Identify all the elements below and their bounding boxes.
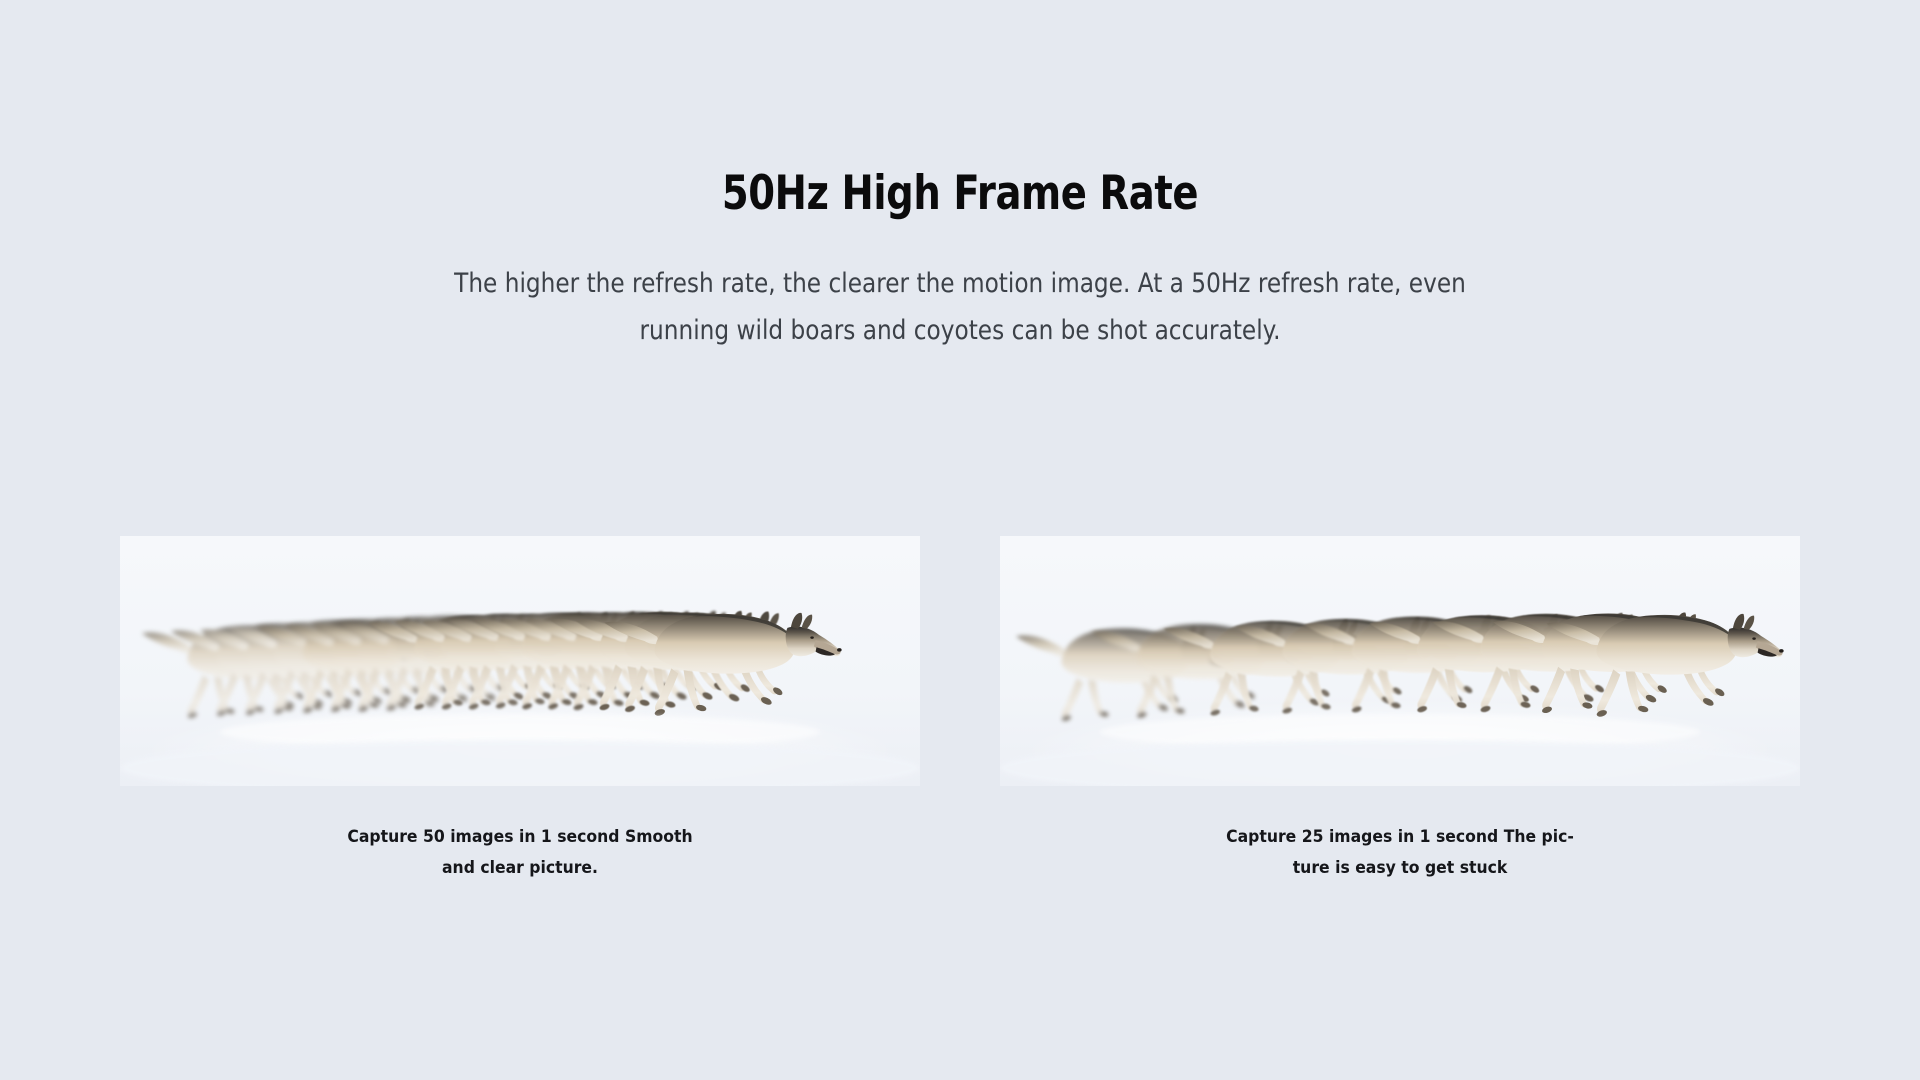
- wolf-burst-25fps-svg: [1000, 536, 1800, 786]
- wolf-burst-25fps-image: [1000, 536, 1800, 786]
- panel-25hz: Capture 25 images in 1 second The pic- t…: [1000, 536, 1800, 884]
- caption-25hz-line-2: ture is easy to get stuck: [1161, 853, 1639, 884]
- caption-50hz-line-1: Capture 50 images in 1 second Smooth: [281, 822, 759, 853]
- wolf-burst-50fps-image: [120, 536, 920, 786]
- caption-50hz-line-2: and clear picture.: [281, 853, 759, 884]
- page-title: 50Hz High Frame Rate: [173, 168, 1747, 220]
- subtitle-line-2: running wild boars and coyotes can be sh…: [349, 307, 1570, 354]
- panel-50hz: Capture 50 images in 1 second Smooth and…: [120, 536, 920, 884]
- caption-25hz: Capture 25 images in 1 second The pic- t…: [1161, 822, 1639, 884]
- promo-page: 50Hz High Frame Rate The higher the refr…: [0, 0, 1920, 1080]
- caption-50hz: Capture 50 images in 1 second Smooth and…: [281, 822, 759, 884]
- subtitle-line-1: The higher the refresh rate, the clearer…: [349, 260, 1570, 307]
- caption-25hz-line-1: Capture 25 images in 1 second The pic-: [1161, 822, 1639, 853]
- comparison-panels: Capture 50 images in 1 second Smooth and…: [0, 536, 1920, 884]
- page-subtitle: The higher the refresh rate, the clearer…: [349, 220, 1570, 355]
- header: 50Hz High Frame Rate The higher the refr…: [0, 168, 1920, 354]
- wolf-burst-50fps-svg: [120, 536, 920, 786]
